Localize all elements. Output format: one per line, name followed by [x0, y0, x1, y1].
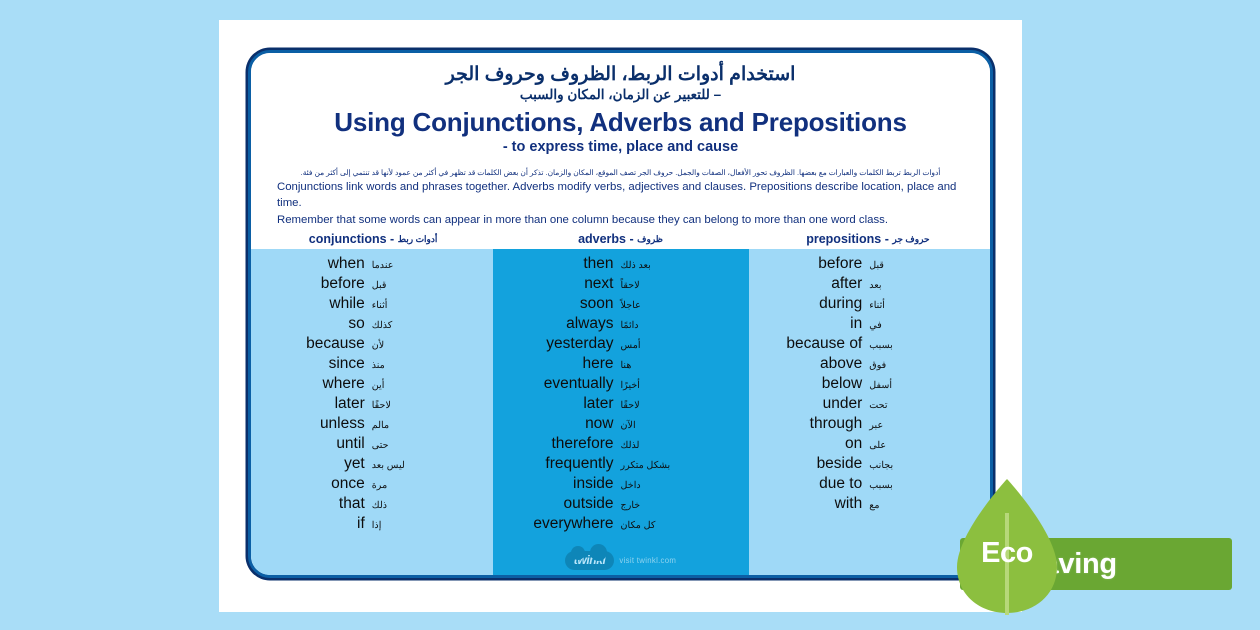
word-english: frequently [493, 456, 621, 472]
word-arabic: مع [869, 501, 990, 511]
word-arabic: داخل [621, 481, 749, 491]
word-row: withمع [749, 496, 991, 516]
word-english: above [749, 356, 870, 372]
word-row: yetليس بعد [251, 456, 493, 476]
word-english: yesterday [493, 336, 621, 352]
word-row: beforeقبل [749, 256, 991, 276]
word-arabic: لذلك [621, 441, 749, 451]
word-arabic: أثناء [869, 301, 990, 311]
word-english: before [251, 276, 372, 292]
word-arabic: ليس بعد [372, 461, 493, 471]
word-row: laterلاحقًا [493, 396, 749, 416]
word-row: insideداخل [493, 476, 749, 496]
word-english: if [251, 516, 372, 532]
intro-paragraph: أدوات الربط تربط الكلمات والعبارات مع بع… [251, 161, 990, 233]
word-row: unlessمالم [251, 416, 493, 436]
column-header-adverbs: adverbs - ظروف [493, 232, 748, 249]
word-english: until [251, 436, 372, 452]
column-header-prepositions: prepositions - حروف جر [748, 232, 988, 249]
word-row: belowأسفل [749, 376, 991, 396]
word-row: inفي [749, 316, 991, 336]
word-row: throughعبر [749, 416, 991, 436]
word-columns: whenعندماbeforeقبلwhileأثناءsoكذلكbecaus… [251, 249, 990, 578]
word-english: with [749, 496, 870, 512]
word-column-adverbs: twinkl visit twinkl.com thenبعد ذلكnextل… [493, 249, 749, 578]
word-english: beside [749, 456, 870, 472]
ink-saving-label: ink saving [960, 548, 1117, 581]
column-header-prepositions-en: prepositions - [806, 232, 889, 246]
word-row: sinceمنذ [251, 356, 493, 376]
title-english: Using Conjunctions, Adverbs and Preposit… [265, 107, 976, 138]
twinkl-logo: twinkl [565, 551, 615, 570]
word-english: under [749, 396, 870, 412]
column-header-prepositions-ar: حروف جر [892, 234, 929, 245]
word-english: after [749, 276, 870, 292]
word-english: during [749, 296, 870, 312]
word-row: yesterdayأمس [493, 336, 749, 356]
word-row: nowالآن [493, 416, 749, 436]
word-arabic: تحت [869, 401, 990, 411]
title-arabic: استخدام أدوات الربط، الظروف وحروف الجر [265, 63, 976, 87]
word-english: everywhere [493, 516, 621, 532]
word-english: soon [493, 296, 621, 312]
word-english: always [493, 316, 621, 332]
word-row: aboveفوق [749, 356, 991, 376]
word-arabic: مرة [372, 481, 493, 491]
word-arabic: أمس [621, 341, 749, 351]
subtitle-english: - to express time, place and cause [265, 139, 976, 156]
subtitle-arabic: – للتعبير عن الزمان، المكان والسبب [265, 86, 976, 104]
word-arabic: كذلك [372, 321, 493, 331]
twinkl-visit-label: visit twinkl.com [619, 556, 676, 565]
word-row: besideبجانب [749, 456, 991, 476]
word-english: inside [493, 476, 621, 492]
intro-english-line-2: Remember that some words can appear in m… [267, 212, 974, 228]
word-row: ifإذا [251, 516, 493, 536]
word-row: due toبسبب [749, 476, 991, 496]
column-header-conjunctions-en: conjunctions - [309, 232, 394, 246]
word-english: on [749, 436, 870, 452]
column-header-conjunctions: conjunctions - أدوات ربط [253, 232, 493, 249]
word-english: through [749, 416, 870, 432]
word-column-prepositions: beforeقبلafterبعدduringأثناءinفيbecause … [749, 249, 991, 578]
word-row: onceمرة [251, 476, 493, 496]
word-arabic: مالم [372, 421, 493, 431]
word-english: so [251, 316, 372, 332]
word-arabic: دائمًا [621, 321, 749, 331]
word-row: onعلى [749, 436, 991, 456]
word-english: next [493, 276, 621, 292]
word-row: whereأين [251, 376, 493, 396]
word-arabic: بشكل متكرر [621, 461, 749, 471]
word-english: since [251, 356, 372, 372]
word-arabic: بعد ذلك [621, 261, 749, 271]
word-english: that [251, 496, 372, 512]
word-english: outside [493, 496, 621, 512]
word-arabic: لاحقًا [372, 401, 493, 411]
word-row: laterلاحقًا [251, 396, 493, 416]
word-row: thatذلك [251, 496, 493, 516]
word-row: afterبعد [749, 276, 991, 296]
column-header-adverbs-ar: ظروف [637, 234, 663, 245]
word-arabic: لأن [372, 341, 493, 351]
word-row: beforeقبل [251, 276, 493, 296]
word-english: eventually [493, 376, 621, 392]
column-headers: conjunctions - أدوات ربط adverbs - ظروف … [251, 232, 990, 249]
word-arabic: بسبب [869, 341, 990, 351]
word-arabic: ذلك [372, 501, 493, 511]
word-row: hereهنا [493, 356, 749, 376]
word-english: then [493, 256, 621, 272]
column-header-conjunctions-ar: أدوات ربط [398, 234, 438, 245]
word-english: in [749, 316, 870, 332]
word-arabic: أسفل [869, 381, 990, 391]
word-english: where [251, 376, 372, 392]
word-row: eventuallyأخيرًا [493, 376, 749, 396]
word-arabic: بعد [869, 281, 990, 291]
word-english: now [493, 416, 621, 432]
word-row: underتحت [749, 396, 991, 416]
word-arabic: أخيرًا [621, 381, 749, 391]
word-arabic: بسبب [869, 481, 990, 491]
word-arabic: لاحقاً [621, 281, 749, 291]
word-row: duringأثناء [749, 296, 991, 316]
word-row: thereforeلذلك [493, 436, 749, 456]
word-english: because [251, 336, 372, 352]
word-arabic: أين [372, 381, 493, 391]
word-row: soكذلك [251, 316, 493, 336]
word-arabic: إذا [372, 521, 493, 531]
intro-arabic: أدوات الربط تربط الكلمات والعبارات مع بع… [267, 167, 974, 178]
word-arabic: عندما [372, 261, 493, 271]
word-arabic: فوق [869, 361, 990, 371]
word-row: alwaysدائمًا [493, 316, 749, 336]
word-arabic: عاجلاً [621, 301, 749, 311]
word-arabic: على [869, 441, 990, 451]
word-english: later [493, 396, 621, 412]
word-row: whenعندما [251, 256, 493, 276]
word-english: below [749, 376, 870, 392]
word-row: everywhereكل مكان [493, 516, 749, 536]
word-row: nextلاحقاً [493, 276, 749, 296]
word-arabic: حتى [372, 441, 493, 451]
word-english: therefore [493, 436, 621, 452]
word-english: because of [749, 336, 870, 352]
word-arabic: خارج [621, 501, 749, 511]
ink-saving-badge: ink saving [960, 538, 1232, 590]
word-row: outsideخارج [493, 496, 749, 516]
word-arabic: في [869, 321, 990, 331]
word-row: whileأثناء [251, 296, 493, 316]
word-english: once [251, 476, 372, 492]
word-row: becauseلأن [251, 336, 493, 356]
word-arabic: لاحقًا [621, 401, 749, 411]
word-english: due to [749, 476, 870, 492]
word-row: because ofبسبب [749, 336, 991, 356]
word-row: thenبعد ذلك [493, 256, 749, 276]
word-column-conjunctions: whenعندماbeforeقبلwhileأثناءsoكذلكbecaus… [251, 249, 493, 578]
word-arabic: الآن [621, 421, 749, 431]
poster-card: استخدام أدوات الربط، الظروف وحروف الجر –… [248, 50, 993, 578]
word-english: while [251, 296, 372, 312]
word-english: later [251, 396, 372, 412]
poster-header: استخدام أدوات الربط، الظروف وحروف الجر –… [251, 53, 990, 161]
word-english: when [251, 256, 372, 272]
column-header-adverbs-en: adverbs - [578, 232, 634, 246]
word-arabic: قبل [869, 261, 990, 271]
word-english: before [749, 256, 870, 272]
word-row: frequentlyبشكل متكرر [493, 456, 749, 476]
word-row: soonعاجلاً [493, 296, 749, 316]
word-arabic: منذ [372, 361, 493, 371]
word-arabic: بجانب [869, 461, 990, 471]
word-arabic: هنا [621, 361, 749, 371]
word-english: yet [251, 456, 372, 472]
word-arabic: قبل [372, 281, 493, 291]
intro-english-line-1: Conjunctions link words and phrases toge… [267, 179, 974, 211]
twinkl-footer: twinkl visit twinkl.com [493, 551, 749, 570]
word-arabic: عبر [869, 421, 990, 431]
word-row: untilحتى [251, 436, 493, 456]
word-english: here [493, 356, 621, 372]
word-arabic: كل مكان [621, 521, 749, 531]
word-english: unless [251, 416, 372, 432]
word-arabic: أثناء [372, 301, 493, 311]
